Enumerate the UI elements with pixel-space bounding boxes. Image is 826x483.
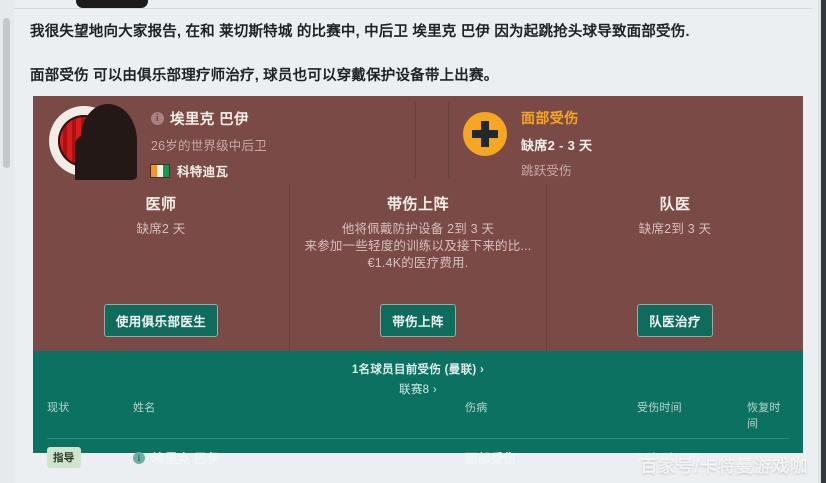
left-scrollbar[interactable] <box>0 0 14 483</box>
left-scrollbar-thumb[interactable] <box>3 18 10 168</box>
column-header-injury: 伤病 <box>465 399 637 431</box>
injury-title: 面部受伤 <box>521 108 592 128</box>
panel-divider-1 <box>415 102 416 178</box>
info-icon[interactable]: i <box>151 112 164 125</box>
row-player-name: 埃里克 巴伊 <box>152 448 220 467</box>
player-name: 埃里克 巴伊 <box>170 108 249 129</box>
avatar: ♛ <box>45 102 137 180</box>
column-header-name: 姓名 <box>133 399 465 431</box>
player-nationality: 科特迪瓦 <box>177 161 228 180</box>
treatment-options: 医师 缺席2 天 使用俱乐部医生 带伤上阵 他将佩戴防护设备 2到 3 天来参加… <box>33 184 803 351</box>
report-paragraph-1: 我很失望地向大家报告, 在和 莱切斯特城 的比赛中, 中后卫 埃里克 巴伊 因为… <box>30 20 690 41</box>
cell-injury: 面部受伤 <box>465 448 637 467</box>
app-root: 我很失望地向大家报告, 在和 莱切斯特城 的比赛中, 中后卫 埃里克 巴伊 因为… <box>0 0 826 483</box>
option-subtitle: 缺席2 天 <box>137 221 186 238</box>
column-header-injury-date: 受伤时间 <box>637 399 747 431</box>
team-doctor-button[interactable]: 队医治疗 <box>637 304 713 337</box>
injury-cause: 跳跃受伤 <box>521 160 592 179</box>
player-nationality-row: 科特迪瓦 <box>151 161 267 180</box>
cell-status: 指导 <box>47 447 133 468</box>
injury-table: 现状 姓名 伤病 受伤时间 恢复时间 指导 i 埃里克 巴伊 面部受伤 24/1… <box>47 399 789 468</box>
injury-panel-header: ♛ i 埃里克 巴伊 26岁的世界级中后卫 科特迪瓦 面部受伤 <box>33 96 803 184</box>
player-info-block: i 埃里克 巴伊 26岁的世界级中后卫 科特迪瓦 <box>151 108 267 180</box>
injury-duration: 缺席2 - 3 天 <box>521 135 592 154</box>
top-tab-stub[interactable] <box>76 0 148 8</box>
cell-name[interactable]: i 埃里克 巴伊 <box>133 448 465 467</box>
report-paragraph-2: 面部受伤 可以由俱乐部理疗师治疗, 球员也可以穿戴保护设备带上出赛。 <box>30 64 498 85</box>
info-icon[interactable]: i <box>133 452 145 464</box>
option-title: 队医 <box>659 193 690 214</box>
header-divider <box>14 8 812 9</box>
option-subtitle: 他将佩戴防护设备 2到 3 天来参加一些轻度的训练以及接下来的比...€1.4K… <box>305 221 532 272</box>
status-badge[interactable]: 指导 <box>47 447 81 468</box>
cell-injury-date: 24/10/2020 <box>637 451 747 465</box>
player-silhouette-icon <box>81 104 137 180</box>
column-header-recovery-date: 恢复时间 <box>747 399 789 431</box>
table-header: 现状 姓名 伤病 受伤时间 恢复时间 <box>47 399 789 439</box>
panel-divider-2 <box>448 102 449 178</box>
treatment-option-physio: 医师 缺席2 天 使用俱乐部医生 <box>33 184 289 351</box>
window-right-edge <box>821 0 826 483</box>
injury-panel: ♛ i 埃里克 巴伊 26岁的世界级中后卫 科特迪瓦 面部受伤 <box>33 96 803 351</box>
option-subtitle: 缺席2到 3 天 <box>639 221 711 238</box>
injury-summary-block: 面部受伤 缺席2 - 3 天 跳跃受伤 <box>463 108 592 179</box>
medical-cross-icon <box>463 112 507 156</box>
flag-icon-ivory-coast <box>151 165 169 177</box>
table-row[interactable]: 指导 i 埃里克 巴伊 面部受伤 24/10/2020 - <box>47 439 789 468</box>
treatment-option-play-injured: 带伤上阵 他将佩戴防护设备 2到 3 天来参加一些轻度的训练以及接下来的比...… <box>289 184 546 351</box>
injury-list-section: 1名球员目前受伤 (曼联) › 联赛8 › 现状 姓名 伤病 受伤时间 恢复时间… <box>33 351 803 453</box>
summary-links: 1名球员目前受伤 (曼联) › 联赛8 › <box>33 351 803 397</box>
use-club-doctor-button[interactable]: 使用俱乐部医生 <box>104 304 218 337</box>
player-description: 26岁的世界级中后卫 <box>151 135 267 154</box>
option-title: 带伤上阵 <box>387 193 449 214</box>
injured-players-link[interactable]: 1名球员目前受伤 (曼联) › <box>33 361 803 377</box>
player-name-row[interactable]: i 埃里克 巴伊 <box>151 108 267 129</box>
treatment-option-team-doctor: 队医 缺席2到 3 天 队医治疗 <box>546 184 803 351</box>
play-injured-button[interactable]: 带伤上阵 <box>380 304 456 337</box>
league-link[interactable]: 联赛8 › <box>33 381 803 397</box>
column-header-status: 现状 <box>47 399 133 431</box>
window-right-edge-inner <box>818 0 821 483</box>
cell-recovery-date: - <box>747 451 789 465</box>
option-title: 医师 <box>145 193 176 214</box>
